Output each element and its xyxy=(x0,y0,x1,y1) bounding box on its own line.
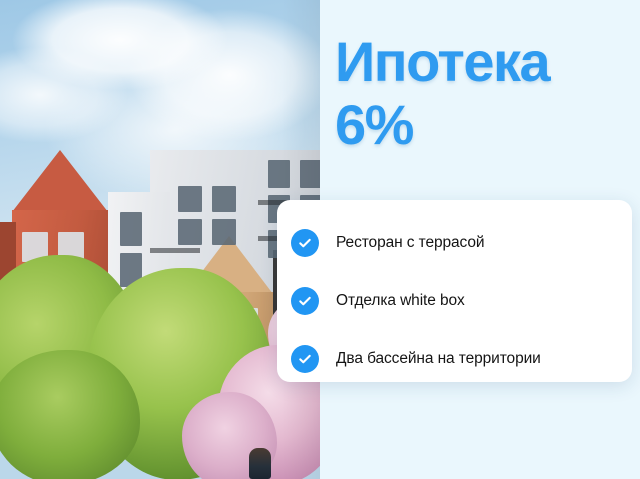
window-grid-white-tall-upper xyxy=(178,186,236,245)
feature-row: Ресторан с террасой xyxy=(277,214,632,272)
roof-gable-orange xyxy=(12,150,108,212)
headline-line-1: Ипотека xyxy=(335,36,637,89)
check-circle-icon xyxy=(291,287,319,315)
promo-banner: Авангард Ипотека 6% Ресторан с террасой … xyxy=(0,0,640,479)
feature-label: Ресторан с террасой xyxy=(336,234,484,252)
check-circle-icon xyxy=(291,229,319,257)
tree-green-front xyxy=(0,350,140,479)
check-circle-icon xyxy=(291,345,319,373)
feature-row: Отделка white box xyxy=(277,272,632,330)
person-figure xyxy=(249,448,271,479)
residential-complex-photo xyxy=(0,0,320,479)
feature-row: Два бассейна на территории xyxy=(277,330,632,388)
feature-label: Два бассейна на территории xyxy=(336,350,541,368)
headline-line-2: 6% xyxy=(335,99,637,152)
balcony-rail-1 xyxy=(150,248,200,253)
headline-block: Ипотека 6% xyxy=(335,36,637,151)
feature-card: Ресторан с террасой Отделка white box Дв… xyxy=(277,200,632,382)
feature-label: Отделка white box xyxy=(336,292,465,310)
